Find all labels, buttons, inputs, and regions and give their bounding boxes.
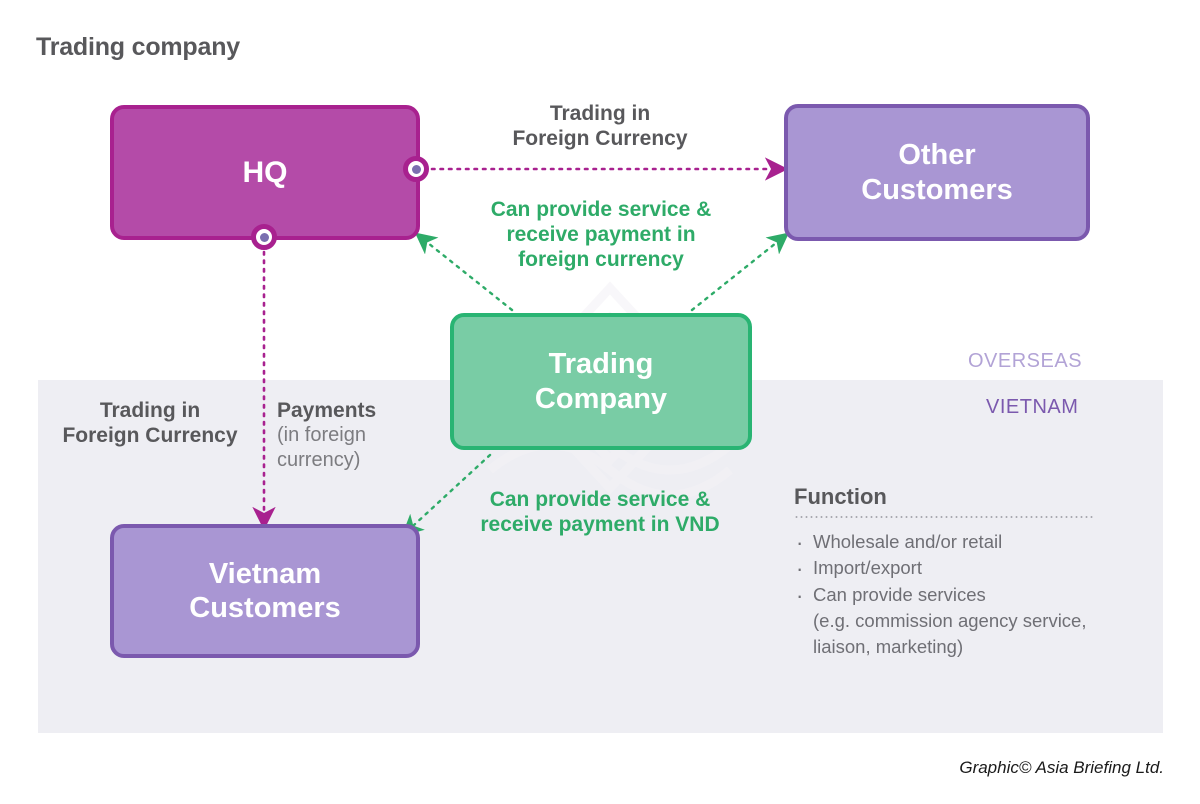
edge-label-payments: Payments (in foreign currency) [277, 398, 427, 473]
edge-label-vnd-line2: receive payment in VND [480, 513, 719, 536]
node-trading-company-label: Trading Company [535, 347, 667, 415]
function-block: Function Wholesale and/or retail Import/… [794, 484, 1104, 660]
list-item: Wholesale and/or retail [794, 529, 1104, 555]
edge-label-hq-to-other-customers: Trading in Foreign Currency [460, 101, 740, 151]
edge-label-fx-line1: Can provide service & [491, 198, 712, 221]
edge-label-payments-sub2: currency) [277, 448, 427, 473]
node-vietnam-customers-label: Vietnam Customers [189, 557, 341, 625]
node-trading-company[interactable]: Trading Company [450, 313, 752, 450]
list-item: Import/export [794, 555, 1104, 581]
graphic-credit: Graphic© Asia Briefing Ltd. [959, 758, 1164, 778]
node-other-customers-line1: Other [898, 139, 975, 171]
edge-label-foreign-currency-service: Can provide service & receive payment in… [458, 197, 744, 273]
function-title: Function [794, 484, 1104, 510]
node-vietnam-customers-line1: Vietnam [209, 558, 321, 590]
node-vietnam-customers-line2: Customers [189, 592, 341, 624]
edge-label-vnd-service: Can provide service & receive payment in… [450, 487, 750, 537]
edge-label-hq-other-line1: Trading in [550, 102, 650, 125]
list-item-continuation: liaison, marketing) [794, 634, 1104, 660]
region-label-vietnam: VIETNAM [986, 396, 1078, 419]
connector-dot-hq-bottom [251, 224, 277, 250]
function-list: Wholesale and/or retail Import/export Ca… [794, 529, 1104, 660]
function-divider [794, 516, 1094, 518]
node-other-customers-line2: Customers [861, 174, 1013, 206]
node-hq[interactable]: HQ [110, 105, 420, 240]
edge-label-payments-sub1: (in foreign [277, 423, 427, 448]
diagram-canvas: Trading company HQ Other Customers [0, 0, 1200, 804]
node-other-customers[interactable]: Other Customers [784, 104, 1090, 241]
node-trading-company-line2: Company [535, 383, 667, 415]
node-vietnam-customers[interactable]: Vietnam Customers [110, 524, 420, 658]
connector-dot-hq-right [403, 156, 429, 182]
list-item-continuation: (e.g. commission agency service, [794, 608, 1104, 634]
node-other-customers-label: Other Customers [861, 138, 1013, 206]
edge-label-payments-head: Payments [277, 398, 427, 423]
edge-label-hq-vn-line2: Foreign Currency [62, 424, 237, 447]
edge-label-hq-vn-line1: Trading in [100, 399, 200, 422]
node-hq-label: HQ [243, 155, 288, 190]
edge-label-fx-line3: foreign currency [518, 248, 684, 271]
node-trading-company-line1: Trading [549, 348, 654, 380]
edge-label-fx-line2: receive payment in [506, 223, 695, 246]
region-label-overseas: OVERSEAS [968, 350, 1082, 373]
list-item: Can provide services [794, 582, 1104, 608]
edge-label-hq-other-line2: Foreign Currency [512, 127, 687, 150]
edge-label-vnd-line1: Can provide service & [490, 488, 711, 511]
edge-label-hq-to-vietnam-customers: Trading in Foreign Currency [36, 398, 264, 448]
